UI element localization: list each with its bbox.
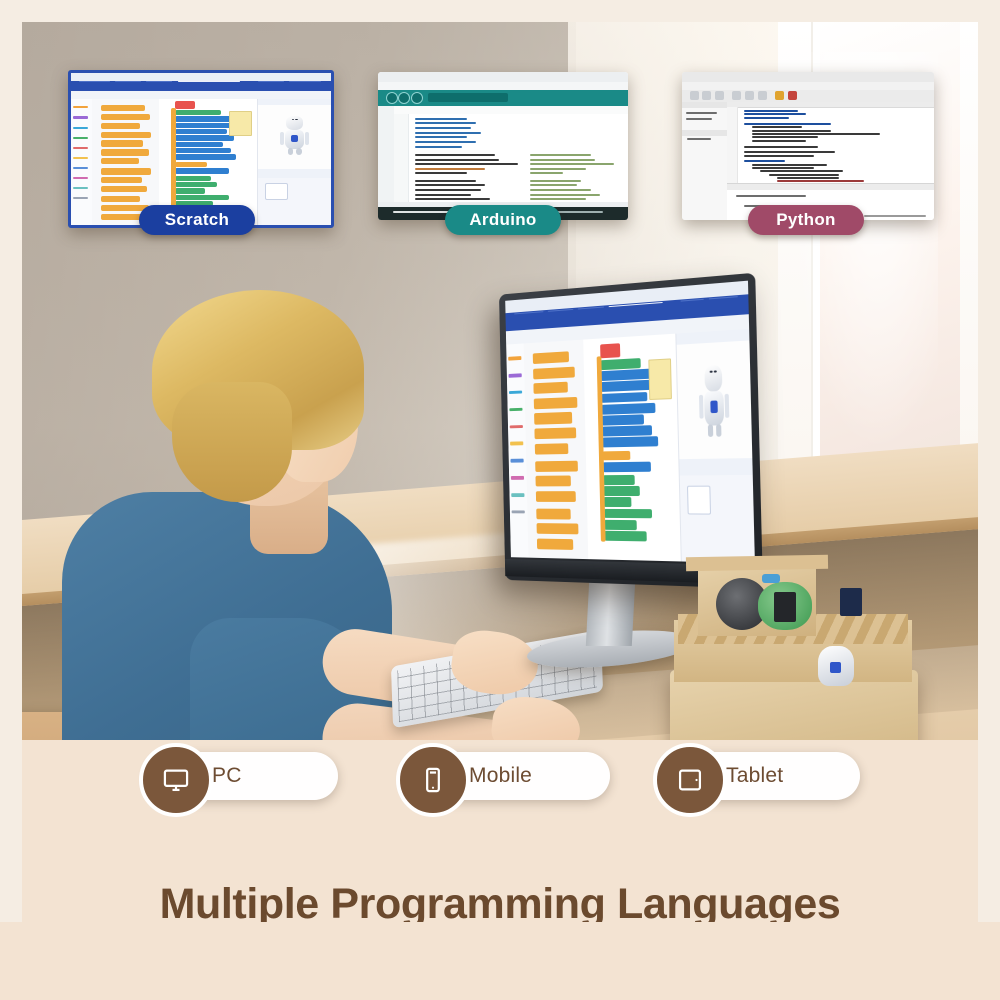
file-tab[interactable]	[727, 102, 934, 108]
badge-tablet[interactable]: Tablet	[662, 752, 860, 800]
frame-left	[0, 0, 22, 1000]
frame-top	[0, 0, 1000, 22]
pill-python-label: Python	[776, 210, 835, 230]
menu-chip[interactable]	[578, 306, 604, 309]
pill-scratch[interactable]: Scratch	[139, 205, 255, 235]
panel-arduino[interactable]	[378, 72, 628, 220]
sensor-module-right	[840, 588, 862, 616]
pill-python[interactable]: Python	[748, 205, 864, 235]
stage-toolbar[interactable]	[258, 99, 331, 105]
device-badge-row: PC Mobile Tablet	[0, 752, 1000, 818]
arduino-ide	[378, 72, 628, 220]
sprite-panel[interactable]	[678, 459, 755, 564]
frame-bottom	[0, 922, 1000, 1000]
line-numbers	[727, 107, 737, 185]
badge-pc[interactable]: PC	[148, 752, 338, 800]
ide-title-bar	[378, 72, 628, 82]
badge-tablet-label: Tablet	[726, 764, 783, 788]
robot-sprite	[695, 358, 732, 439]
script-canvas[interactable]	[584, 333, 682, 561]
kit-house-roof	[686, 555, 828, 571]
tablet-icon	[653, 743, 727, 817]
frame-right	[978, 0, 1000, 1000]
comment-note[interactable]	[648, 359, 672, 401]
pill-arduino[interactable]: Arduino	[445, 205, 561, 235]
menu-chip[interactable]	[709, 296, 738, 299]
badge-mobile-label: Mobile	[469, 764, 532, 788]
file-browser[interactable]	[682, 102, 728, 220]
kit-blue-part	[762, 574, 780, 583]
sprite-thumb[interactable]	[265, 183, 287, 200]
sprite-toolbar[interactable]	[258, 169, 331, 178]
sensor-module-tree	[774, 592, 796, 622]
category-palette[interactable]	[71, 99, 93, 225]
scratch-editor-panel	[71, 73, 331, 225]
board-selector[interactable]	[428, 93, 508, 102]
line-numbers	[394, 114, 409, 207]
thonny-ide	[682, 72, 934, 220]
desktop-monitor-icon	[139, 743, 213, 817]
robot-sprite	[277, 113, 312, 156]
promo-image: Scratch	[0, 0, 1000, 1000]
badge-mobile[interactable]: Mobile	[405, 752, 610, 800]
ide-menu-bar	[682, 82, 934, 89]
ide-menu-bar	[378, 82, 628, 89]
desktop-monitor	[499, 273, 763, 589]
kit-robot-badge	[830, 662, 841, 673]
ide-sidebar[interactable]	[378, 106, 395, 207]
panel-python[interactable]	[682, 72, 934, 220]
sprite-thumb[interactable]	[687, 486, 711, 515]
comment-note[interactable]	[229, 111, 253, 136]
code-editor[interactable]	[394, 114, 628, 207]
stage-preview[interactable]	[257, 99, 331, 169]
sprite-toolbar[interactable]	[679, 459, 752, 476]
sprite-panel[interactable]	[257, 169, 331, 225]
menu-chip[interactable]	[681, 299, 704, 301]
scratch-editor	[505, 281, 755, 564]
stage-preview[interactable]	[675, 329, 752, 460]
smartphone-icon	[396, 743, 470, 817]
block-palette-list[interactable]	[524, 339, 590, 559]
menu-chip[interactable]	[548, 309, 573, 312]
ide-title-bar	[682, 72, 934, 82]
badge-pc-label: PC	[212, 764, 242, 788]
monitor-screen[interactable]	[505, 281, 755, 564]
pill-scratch-label: Scratch	[165, 210, 229, 230]
pill-arduino-label: Arduino	[469, 210, 536, 230]
code-editor[interactable]	[727, 102, 934, 185]
